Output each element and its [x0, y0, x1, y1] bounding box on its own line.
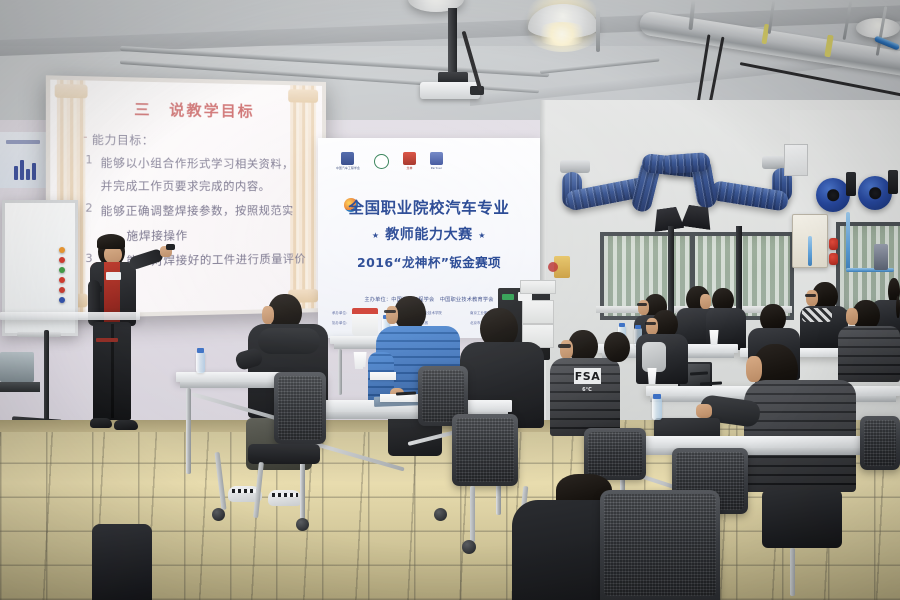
bottle-cap [653, 394, 661, 399]
desk-apron [180, 382, 288, 388]
power-socket-red [829, 253, 838, 265]
banner-title-line1: 全国职业院校汽车专业 [318, 196, 540, 218]
fsa-sub-patch: 6°C [578, 386, 596, 394]
white-cabinet-top [520, 280, 556, 294]
presenter-remote [166, 244, 175, 250]
power-socket-red [829, 238, 838, 250]
hose-reel-bracket [846, 172, 856, 196]
water-bottle [196, 352, 205, 373]
fsa-patch: FSA [574, 368, 601, 384]
magnet-orange [59, 247, 65, 253]
audience-head-left-2 [394, 296, 426, 330]
paper-sheet [370, 372, 396, 380]
hose-reel-bracket [888, 170, 898, 194]
banner-title-line2: ★ 教师能力大赛 ★ [318, 224, 540, 244]
partner-logo: Partner [430, 152, 443, 170]
audience-face-left-1 [262, 306, 274, 324]
scarf-pattern [802, 308, 832, 322]
hose-reel-left [816, 178, 850, 212]
cooler-lid [352, 308, 378, 314]
air-line [846, 212, 850, 272]
shoe-stripe [272, 493, 298, 497]
ceiling-lamp-right [856, 18, 900, 38]
presenter-shoe-right [114, 420, 138, 430]
audience-hand [696, 404, 712, 418]
banner-logo-row: 中国汽车工程学会 龙神 Partner [336, 150, 522, 172]
jacket-stripe [642, 342, 666, 372]
audience-head-fsa-2 [604, 332, 630, 362]
ceiling-lamp-bulb [534, 22, 590, 46]
desk-apron [616, 448, 896, 455]
star-icon: ★ [478, 231, 486, 240]
foreground-legs-left [92, 524, 152, 600]
bench-equipment [0, 352, 34, 382]
ceiling-hanger [596, 8, 600, 52]
shoe-stripe [232, 489, 258, 493]
audience-face-back-2 [700, 294, 711, 309]
magnet-red [59, 287, 65, 293]
table-leg [338, 349, 342, 395]
audience-face-mid-1 [646, 318, 658, 335]
audience-face-left-2 [386, 306, 398, 324]
chair-foreground [600, 490, 720, 600]
presenter-shoe-left [90, 418, 112, 428]
glasses-icon [645, 322, 656, 325]
banner-title-line3: 2016“龙神杯”钣金赛项 [318, 252, 540, 271]
glasses-icon [384, 310, 396, 313]
table-caster [296, 518, 309, 531]
chair-back-left-3 [452, 414, 518, 486]
whiteboard-tray [17, 332, 61, 337]
air-regulator [874, 244, 888, 270]
bottle-cap [619, 323, 625, 327]
circle-emblem-logo [374, 154, 389, 169]
bottle-cap [635, 325, 641, 329]
glasses-icon [558, 344, 571, 348]
cabinet-drawer [522, 300, 554, 324]
fume-arm-collar-left [560, 160, 590, 173]
air-line [808, 236, 812, 266]
chair-seat-left-1 [248, 444, 320, 464]
bench-rail [0, 382, 40, 392]
trouser-stripe [96, 338, 118, 342]
desk-far-left [0, 312, 140, 320]
china-sae-logo: 中国汽车工程学会 [336, 152, 360, 170]
chair-back-left-1 [274, 372, 326, 444]
star-icon: ★ [372, 231, 380, 240]
audience-torso-mid-3 [838, 326, 900, 382]
audience-face-fsa [560, 340, 573, 359]
table-leg [186, 388, 191, 474]
fume-arm-right-top [661, 152, 710, 174]
table-caster [434, 508, 447, 521]
water-cooler-box [352, 312, 378, 336]
chair-leg [470, 486, 475, 542]
exit-sign-green [502, 294, 514, 300]
wall-junction-box [784, 144, 808, 176]
banner-sub-label: 承办单位： [332, 310, 349, 315]
glasses-icon [637, 303, 647, 306]
chair-caster [462, 540, 476, 554]
longshen-logo: 龙神 [403, 152, 416, 170]
banner-title-line2-text: 教师能力大赛 [385, 227, 473, 243]
bottle-cap [197, 348, 204, 353]
audience-face-front-right [746, 356, 762, 382]
presenter-hair [97, 234, 125, 249]
magnet-blue [59, 297, 65, 303]
classroom-photo-scene: 三 说教学目标 能力目标： - 1 能够以小组合作形式学习相关资料， 并完成工作… [0, 0, 900, 600]
emergency-button [548, 262, 558, 272]
chair-caster [212, 508, 225, 521]
audience-legs-front-right [762, 490, 842, 548]
chair-leg [790, 548, 795, 596]
banner-sub-label: 协办单位： [332, 320, 349, 325]
presenter-badge [106, 272, 121, 280]
magnet-red [59, 277, 65, 283]
projector-pole [448, 8, 457, 80]
glasses-icon [805, 294, 816, 297]
desk-front-right [612, 436, 900, 448]
chair-back-right-2 [584, 428, 646, 480]
magnet-green [59, 267, 65, 273]
audience-face-mid-3 [846, 308, 858, 325]
audience-head-back-6 [896, 296, 900, 318]
magnet-red [59, 257, 65, 263]
hoodie-hood [258, 328, 320, 354]
hose-reel-right [858, 176, 892, 210]
audience-face-back-4 [806, 290, 818, 306]
chair-back-right-3 [860, 416, 900, 470]
water-bottle [652, 398, 662, 420]
